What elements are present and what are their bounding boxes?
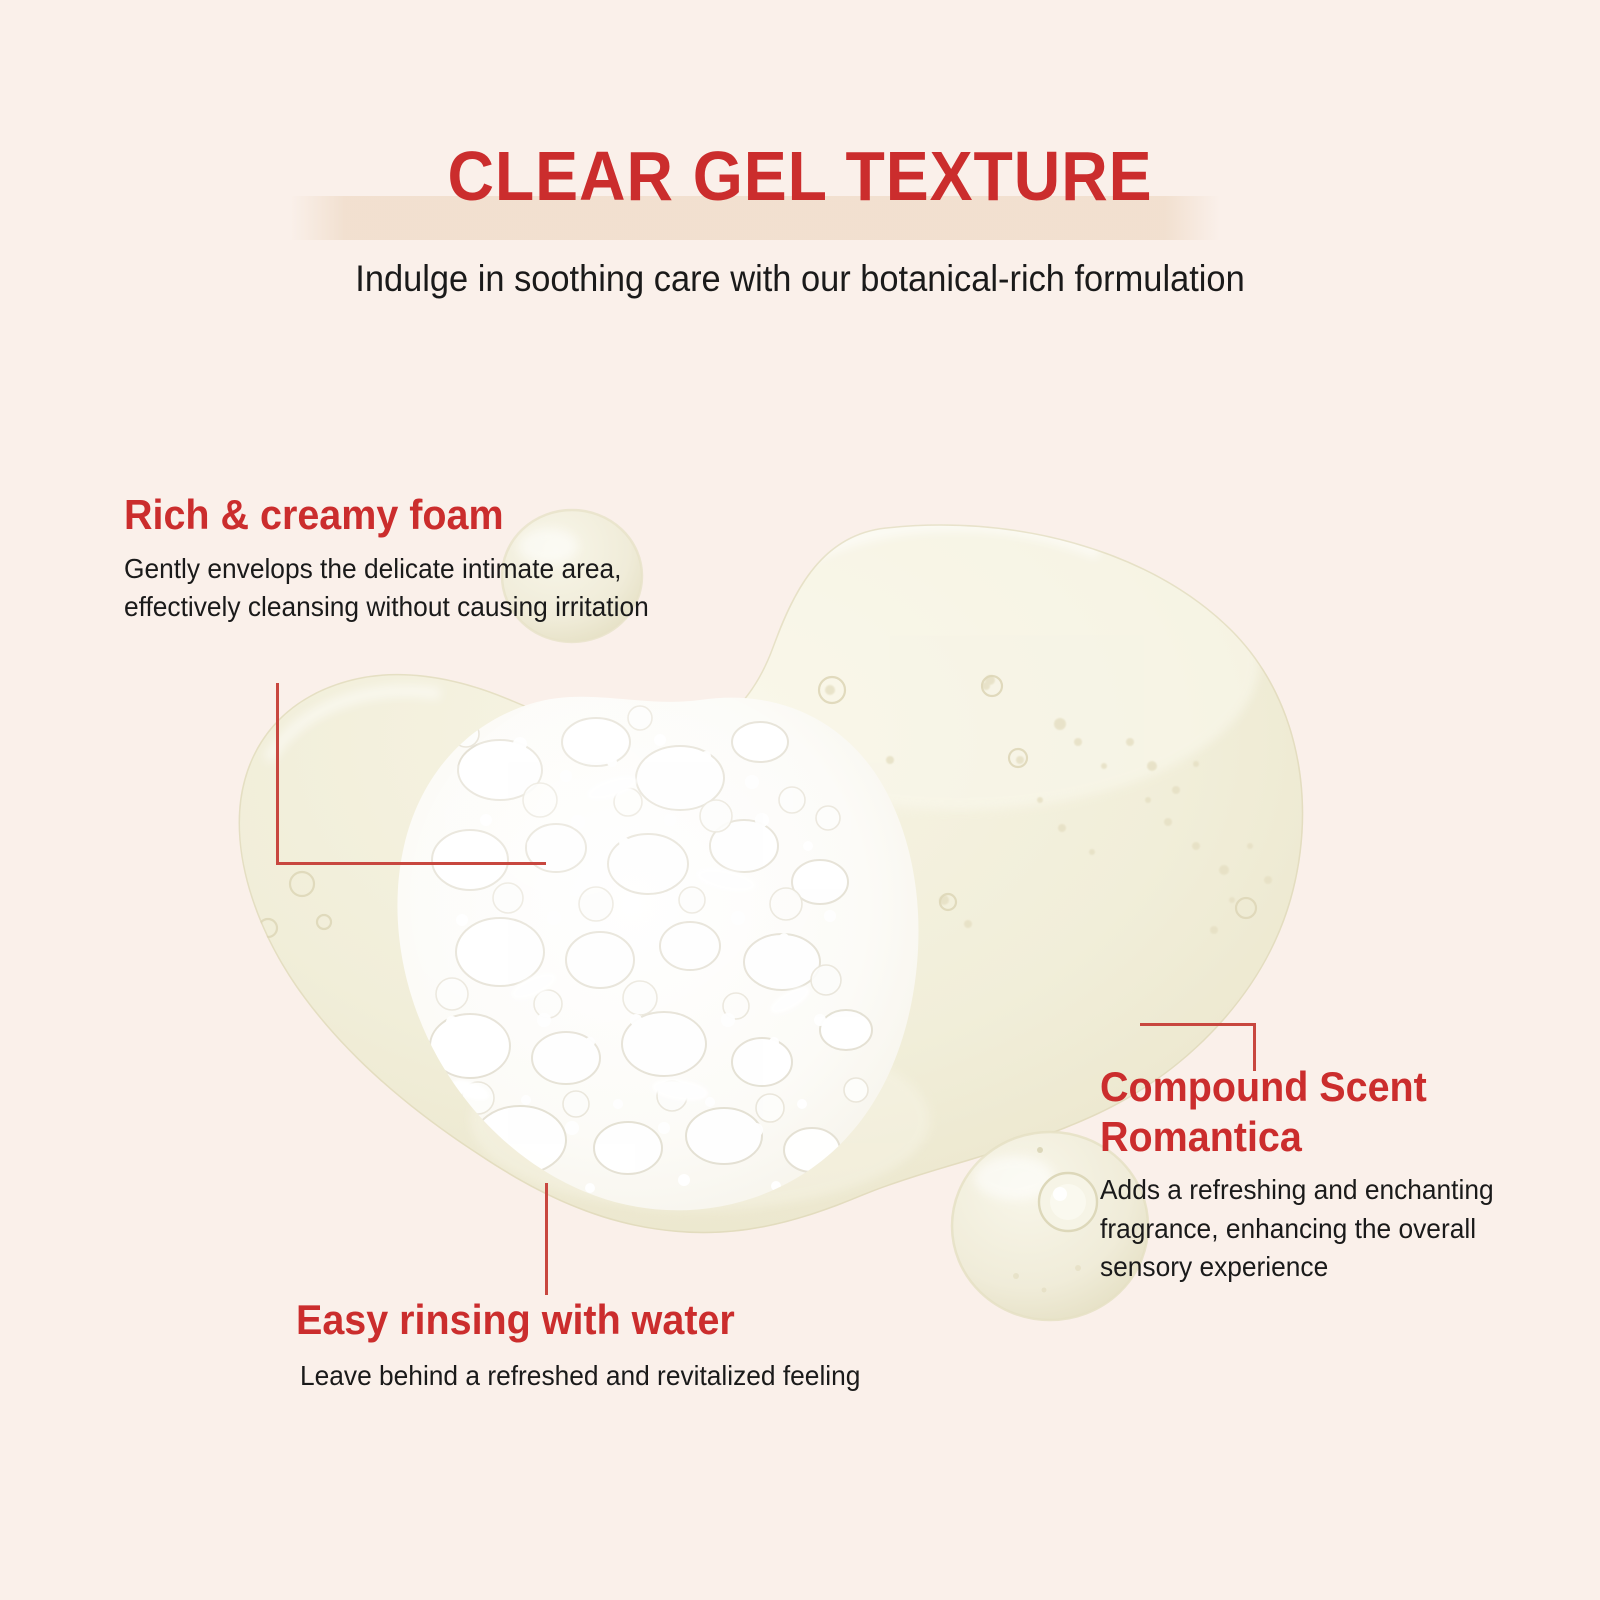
feature-body-line: Gently envelops the delicate intimate ar…	[124, 550, 782, 589]
page-subtitle: Indulge in soothing care with our botani…	[56, 258, 1544, 300]
feature-title-rich-creamy-foam: Rich & creamy foam	[124, 490, 782, 540]
feature-title-line: Romantica	[1100, 1112, 1542, 1162]
feature-body-easy-rinsing-with-water: Leave behind a refreshed and revitalized…	[300, 1357, 954, 1396]
connector-line-rich-creamy-foam-vertical	[276, 683, 279, 865]
page-title: CLEAR GEL TEXTURE	[64, 140, 1536, 214]
feature-title-line: Compound Scent	[1100, 1062, 1542, 1112]
feature-block-rich-creamy-foam: Rich & creamy foam Gently envelops the d…	[124, 490, 824, 627]
feature-body-rich-creamy-foam: Gently envelops the delicate intimate ar…	[124, 550, 782, 627]
feature-body-line: effectively cleansing without causing ir…	[124, 588, 782, 627]
feature-block-compound-scent-romantica: Compound Scent Romantica Adds a refreshi…	[1100, 1062, 1570, 1287]
product-feature-infographic: CLEAR GEL TEXTURE Indulge in soothing ca…	[0, 0, 1600, 1600]
feature-body-line: Adds a refreshing and enchanting	[1100, 1171, 1542, 1210]
feature-body-line: fragrance, enhancing the overall	[1100, 1210, 1542, 1249]
feature-body-line: sensory experience	[1100, 1248, 1542, 1287]
foam-mass	[380, 680, 940, 1240]
feature-title-compound-scent-romantica: Compound Scent Romantica	[1100, 1062, 1542, 1161]
feature-title-easy-rinsing-with-water: Easy rinsing with water	[296, 1295, 954, 1345]
connector-line-compound-scent-horizontal	[1140, 1023, 1256, 1026]
connector-line-rich-creamy-foam-horizontal	[276, 862, 546, 865]
feature-body-compound-scent-romantica: Adds a refreshing and enchanting fragran…	[1100, 1171, 1542, 1287]
connector-line-easy-rinsing-vertical	[545, 1183, 548, 1295]
feature-block-easy-rinsing-with-water: Easy rinsing with water Leave behind a r…	[296, 1295, 996, 1395]
feature-body-line: Leave behind a refreshed and revitalized…	[300, 1357, 954, 1396]
